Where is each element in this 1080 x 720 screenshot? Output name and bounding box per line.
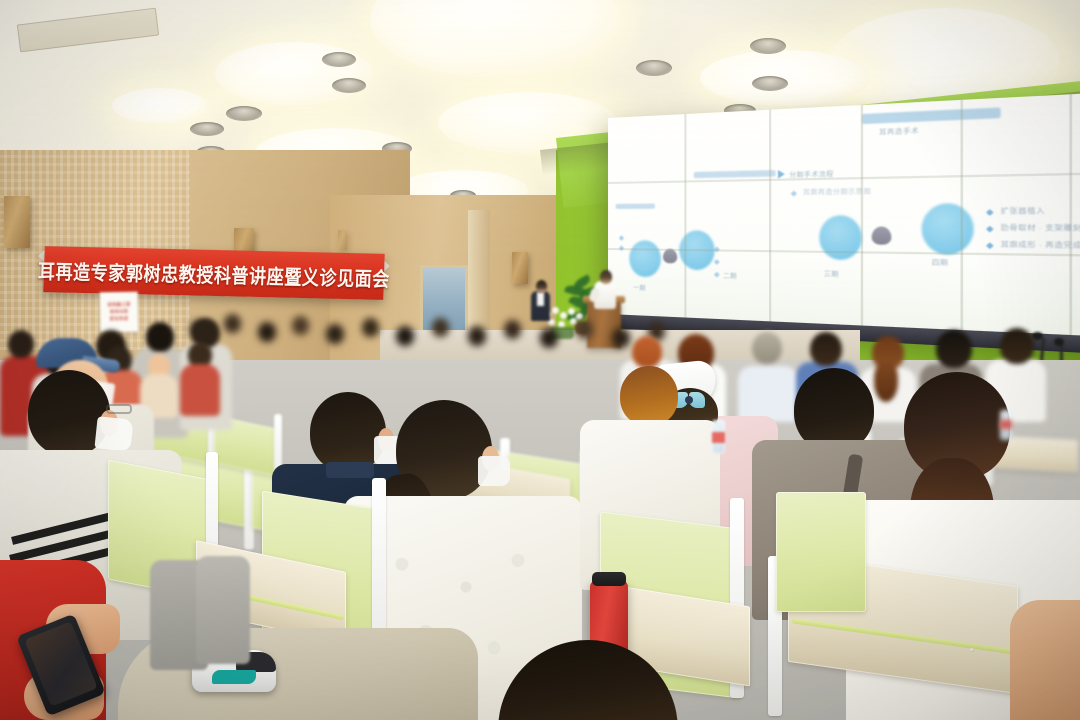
wall-speaker-icon bbox=[4, 196, 30, 248]
event-banner: 耳再造专家郭树忠教授科普讲座暨义诊见面会 bbox=[43, 246, 384, 300]
sneaker-accent bbox=[212, 670, 256, 684]
ceiling-spotlight bbox=[226, 106, 262, 121]
glasses-icon bbox=[106, 404, 132, 414]
ceiling-oval-light bbox=[112, 88, 208, 124]
ceiling-spotlight bbox=[750, 38, 786, 54]
tray-screw bbox=[970, 648, 974, 652]
foreground-arm bbox=[1010, 600, 1080, 720]
standing-person-legs bbox=[196, 556, 250, 664]
wall-speaker-icon bbox=[338, 230, 347, 250]
ceiling-oval-light bbox=[215, 42, 373, 106]
ceiling-spotlight bbox=[190, 122, 224, 136]
thermos-cap[interactable] bbox=[592, 572, 626, 586]
host-head bbox=[536, 280, 547, 293]
ceiling-spotlight bbox=[636, 60, 672, 76]
ceiling-spotlight bbox=[332, 78, 366, 93]
presenter-head bbox=[600, 270, 612, 284]
wall-speaker-icon bbox=[512, 252, 528, 284]
ceiling-spotlight bbox=[752, 76, 788, 91]
ceiling-oval-light bbox=[700, 50, 870, 106]
bottle-label bbox=[712, 432, 725, 443]
bottle-label bbox=[1000, 420, 1012, 429]
lecture-hall-photo: 耳再造手术 分期手术流程 一期 二期 三期 四期 扩张器植入 肋骨取材 · 支架… bbox=[0, 0, 1080, 720]
ceiling-spotlight bbox=[322, 52, 356, 67]
seat-back bbox=[776, 492, 866, 612]
event-banner-text: 耳再造专家郭树忠教授科普讲座暨义诊见面会 bbox=[38, 254, 391, 291]
